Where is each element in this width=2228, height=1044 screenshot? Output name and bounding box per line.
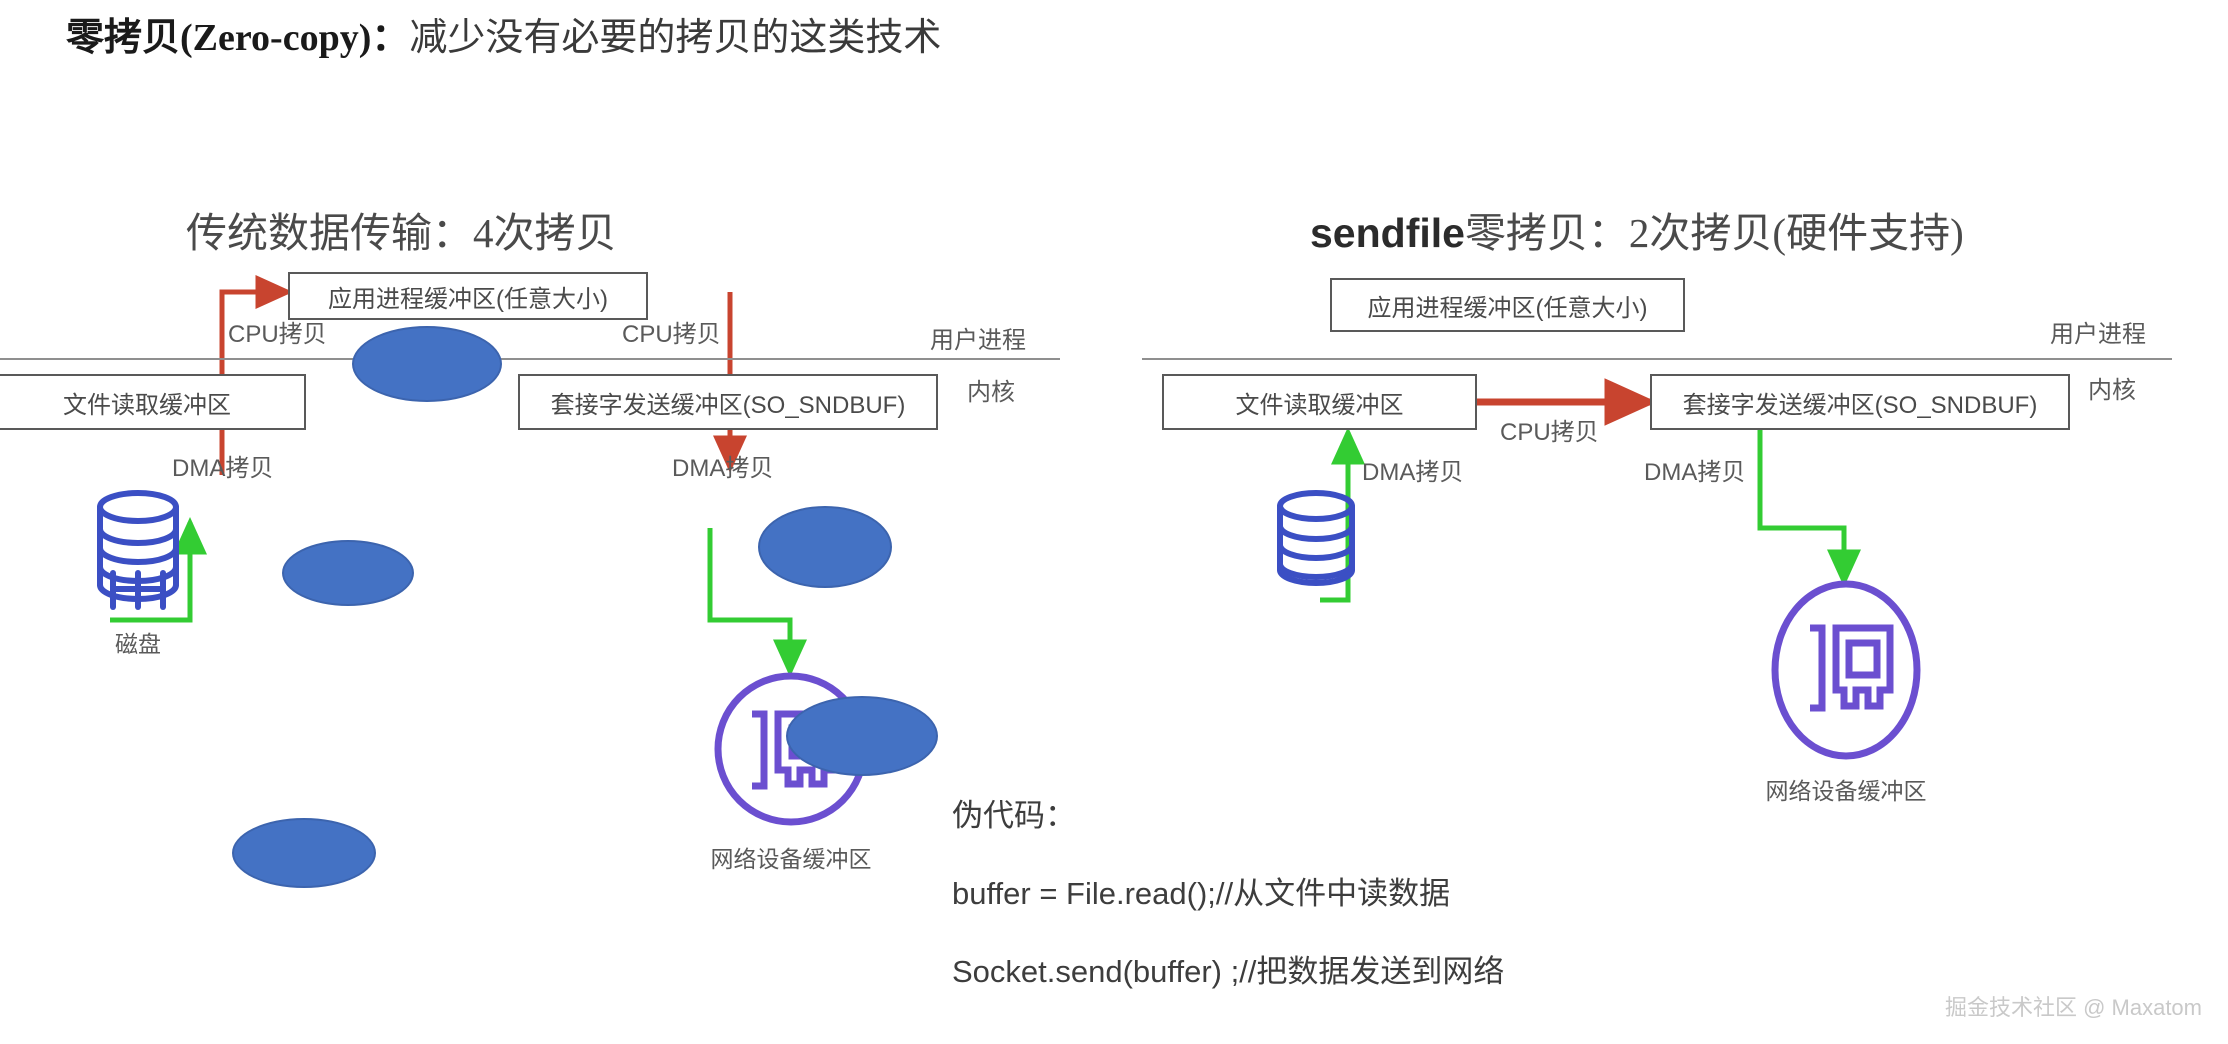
arrow-dma-copy-2 — [1760, 430, 1844, 582]
box-label: 文件读取缓冲区 — [63, 385, 231, 420]
box-label: 文件读取缓冲区 — [1236, 385, 1404, 420]
label-dma-copy-1-left: DMA拷贝 — [172, 448, 273, 483]
annotation-blob-5 — [232, 818, 376, 888]
disk-icon-right — [1268, 488, 1364, 588]
label-dma-copy-2-right: DMA拷贝 — [1644, 452, 1745, 487]
zone-label-kernel-left: 内核 — [967, 372, 1015, 407]
box-label: 应用进程缓冲区(任意大小) — [1368, 288, 1648, 323]
annotation-blob-4 — [786, 696, 938, 776]
pseudocode-line-1: buffer = File.read();//从文件中读数据 — [952, 878, 1712, 910]
caption-disk-left: 磁盘 — [88, 625, 188, 659]
zone-label-user-left: 用户进程 — [930, 320, 1026, 355]
box-label: 套接字发送缓冲区(SO_SNDBUF) — [551, 385, 906, 420]
label-cpu-copy-1-right: CPU拷贝 — [1500, 412, 1599, 447]
caption-nic-right: 网络设备缓冲区 — [1746, 772, 1946, 806]
box-label: 应用进程缓冲区(任意大小) — [328, 279, 608, 314]
box-socket-send-buffer-left: 套接字发送缓冲区(SO_SNDBUF) — [518, 374, 938, 430]
label-cpu-copy-2-left: CPU拷贝 — [622, 314, 721, 349]
pseudocode-block: 伪代码： buffer = File.read();//从文件中读数据 Sock… — [952, 800, 1712, 1034]
annotation-blob-1 — [352, 326, 502, 402]
heading-traditional-copy: 传统数据传输：4次拷贝 — [186, 208, 617, 258]
box-app-process-buffer-right: 应用进程缓冲区(任意大小) — [1330, 278, 1685, 332]
slide-canvas: 零拷贝(Zero-copy)：减少没有必要的拷贝的这类技术 传统数据传输：4次拷… — [0, 0, 2228, 1044]
annotation-blob-2 — [282, 540, 414, 606]
user-kernel-divider-left — [0, 358, 1060, 360]
label-dma-copy-2-left: DMA拷贝 — [672, 448, 773, 483]
caption-nic-left: 网络设备缓冲区 — [692, 840, 890, 874]
zone-label-kernel-right: 内核 — [2088, 370, 2136, 405]
pseudocode-heading: 伪代码： — [952, 800, 1712, 832]
box-file-read-buffer-right: 文件读取缓冲区 — [1162, 374, 1477, 430]
heading-sendfile-keyword: sendfile — [1310, 210, 1465, 256]
page-title-rest: 减少没有必要的拷贝的这类技术 — [409, 17, 941, 59]
watermark: 掘金技术社区 @ Maxatom — [1945, 990, 2202, 1022]
label-dma-copy-1-right: DMA拷贝 — [1362, 452, 1463, 487]
diagram-traditional: 应用进程缓冲区(任意大小) 用户进程 内核 文件读取缓冲区 套接字发送缓冲区(S… — [0, 300, 1080, 920]
pseudocode-line-2: Socket.send(buffer) ;//把数据发送到网络 — [952, 956, 1712, 988]
box-label: 套接字发送缓冲区(SO_SNDBUF) — [1683, 385, 2038, 420]
network-card-icon-right — [1770, 580, 1922, 760]
label-cpu-copy-1-left: CPU拷贝 — [228, 314, 327, 349]
box-app-process-buffer-left: 应用进程缓冲区(任意大小) — [288, 272, 648, 320]
page-title-emphasis: 零拷贝(Zero-copy)： — [66, 17, 409, 59]
disk-icon-left — [88, 485, 188, 615]
box-file-read-buffer-left: 文件读取缓冲区 — [0, 374, 306, 430]
zone-label-user-right: 用户进程 — [2050, 314, 2146, 349]
box-socket-send-buffer-right: 套接字发送缓冲区(SO_SNDBUF) — [1650, 374, 2070, 430]
user-kernel-divider-right — [1142, 358, 2172, 360]
heading-sendfile-rest: 零拷贝：2次拷贝(硬件支持) — [1465, 210, 1964, 256]
page-title: 零拷贝(Zero-copy)：减少没有必要的拷贝的这类技术 — [66, 14, 941, 62]
annotation-blob-3 — [758, 506, 892, 588]
heading-sendfile-zerocopy: sendfile零拷贝：2次拷贝(硬件支持) — [1310, 208, 1964, 258]
